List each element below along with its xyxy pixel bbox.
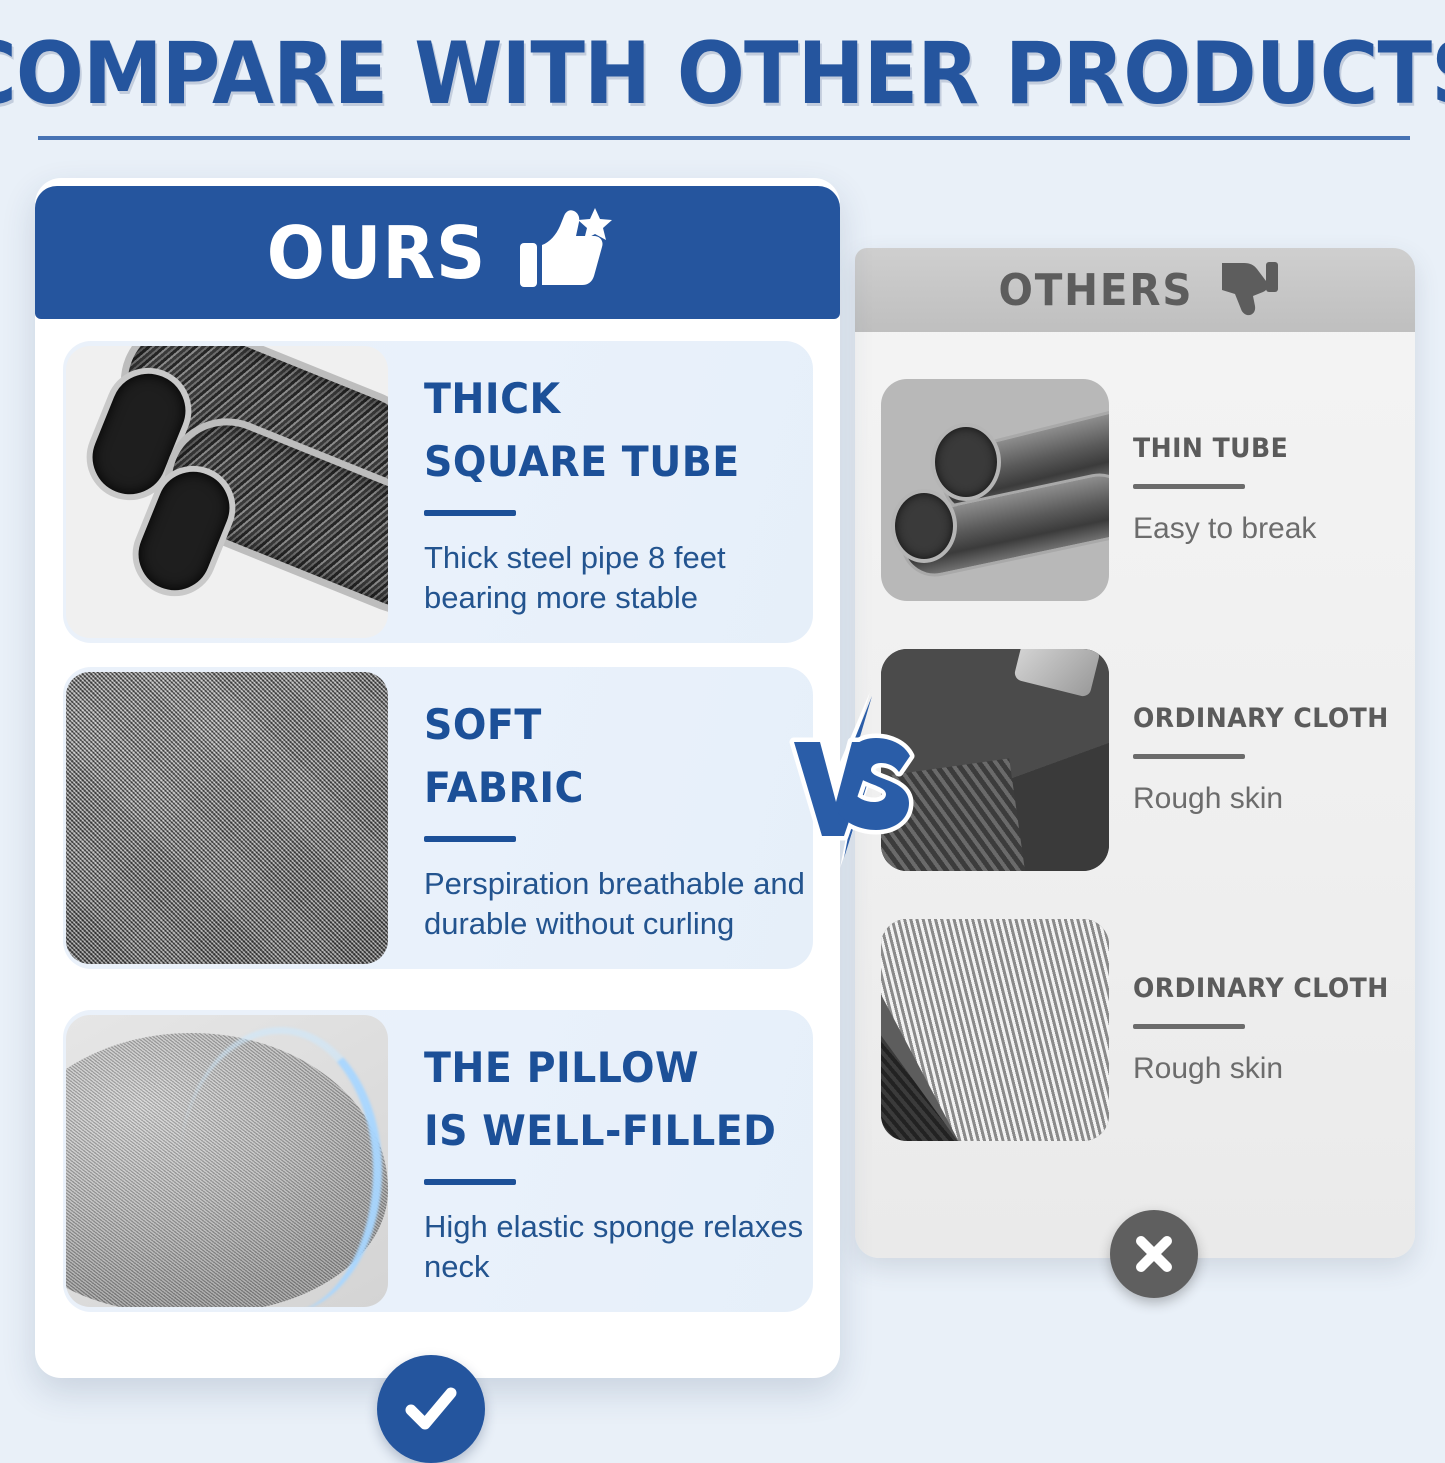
others-feature-description: Easy to break	[1133, 511, 1391, 547]
thumbs-down-icon	[1220, 259, 1280, 322]
others-feature-description: Rough skin	[1133, 781, 1408, 817]
soft-woven-fabric-photo	[66, 672, 388, 964]
ours-comparison-card: OURS THICK SQUARE TUBE Thick steel pipe …	[35, 178, 840, 1378]
others-feature-title: THIN TUBE	[1133, 433, 1373, 464]
ours-label: OURS	[267, 211, 486, 295]
others-title-rule	[1133, 484, 1245, 489]
ours-feature-description: High elastic sponge relaxes neck	[424, 1207, 813, 1286]
ours-title-line1: THICK	[424, 374, 561, 423]
others-title-rule	[1133, 1024, 1245, 1029]
others-title-rule	[1133, 754, 1245, 759]
ours-title-rule	[424, 510, 516, 516]
thick-square-steel-tubes-photo	[66, 346, 388, 638]
others-header: OTHERS	[855, 248, 1415, 332]
ours-feature-row: THICK SQUARE TUBE Thick steel pipe 8 fee…	[63, 341, 813, 643]
others-feature-row: THIN TUBE Easy to break	[881, 374, 1391, 606]
ours-feature-title: THICK SQUARE TUBE	[424, 367, 790, 495]
ours-feature-title: SOFT FABRIC	[424, 693, 790, 821]
ours-header: OURS	[35, 186, 840, 319]
others-comparison-card: OTHERS THIN TUBE Easy to break ORDINARY …	[855, 248, 1415, 1258]
striped-ordinary-cloth-photo	[881, 919, 1109, 1141]
ours-title-rule	[424, 1179, 516, 1185]
ours-feature-description: Perspiration breathable and durable with…	[424, 864, 813, 943]
title-bar: COMPARE WITH OTHER PRODUCTS	[0, 0, 1445, 160]
others-verdict-x-badge	[1110, 1210, 1198, 1298]
others-feature-row: ORDINARY CLOTH Rough skin	[881, 644, 1391, 876]
x-circle-icon	[1128, 1228, 1180, 1280]
ours-feature-row: THE PILLOW IS WELL-FILLED High elastic s…	[63, 1010, 813, 1312]
others-label: OTHERS	[999, 265, 1194, 316]
filled-pillow-photo	[66, 1015, 388, 1307]
thin-round-tubes-photo	[881, 379, 1109, 601]
others-feature-title: ORDINARY CLOTH	[1133, 703, 1389, 734]
ours-feature-title: THE PILLOW IS WELL-FILLED	[424, 1036, 790, 1164]
ours-verdict-check-badge	[377, 1355, 485, 1463]
ours-feature-description: Thick steel pipe 8 feet bearing more sta…	[424, 538, 813, 617]
ours-title-line2: IS WELL-FILLED	[424, 1106, 776, 1155]
title-divider	[38, 136, 1410, 140]
others-feature-title: ORDINARY CLOTH	[1133, 973, 1389, 1004]
ours-title-line1: THE PILLOW	[424, 1043, 699, 1092]
ours-feature-row: SOFT FABRIC Perspiration breathable and …	[63, 667, 813, 969]
ours-title-line1: SOFT	[424, 700, 542, 749]
others-feature-row: ORDINARY CLOTH Rough skin	[881, 914, 1391, 1146]
check-circle-icon	[399, 1377, 463, 1441]
others-feature-description: Rough skin	[1133, 1051, 1408, 1087]
vs-divider-badge	[778, 690, 928, 870]
ours-title-rule	[424, 836, 516, 842]
thumbs-up-star-icon	[518, 205, 614, 300]
ours-title-line2: SQUARE TUBE	[424, 437, 740, 486]
ours-title-line2: FABRIC	[424, 763, 584, 812]
page-title: COMPARE WITH OTHER PRODUCTS	[0, 24, 1445, 124]
